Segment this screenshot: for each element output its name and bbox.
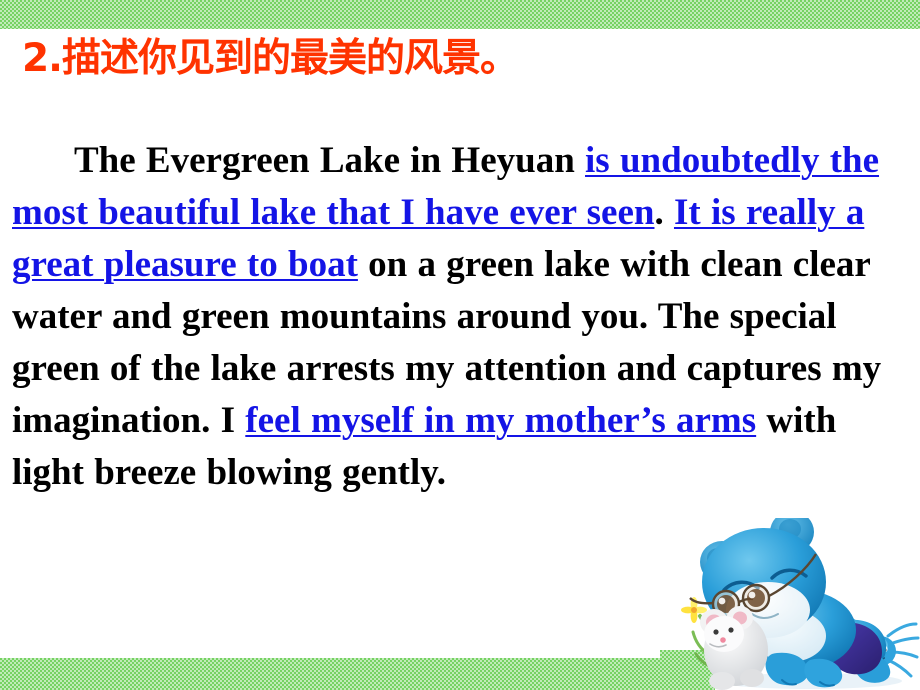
bear-mouse-illustration [660, 518, 920, 690]
slide-canvas: 2.描述你见到的最美的风景。 The Evergreen Lake in Hey… [0, 0, 920, 690]
top-green-band [0, 0, 920, 29]
text-segment-period: . [654, 192, 674, 233]
page-title: 2.描述你见到的最美的风景。 [22, 36, 518, 82]
text-segment-intro: The Evergreen Lake in Heyuan [74, 140, 585, 181]
text-segment-highlight-3: feel myself in my mother’s arms [245, 400, 756, 441]
body-paragraph: The Evergreen Lake in Heyuan is undoubte… [12, 135, 910, 499]
